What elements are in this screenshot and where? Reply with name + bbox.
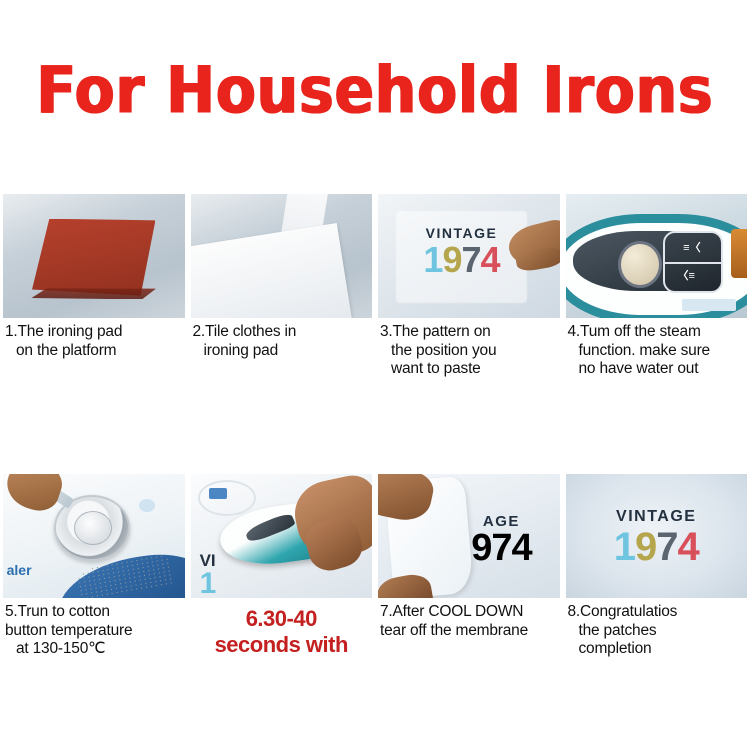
artwork-digit-9: 9	[442, 242, 461, 278]
shirt-tag	[209, 488, 227, 499]
step-number-2: 2.	[193, 323, 206, 340]
step-number-3: 3.	[380, 323, 393, 340]
dial-center	[74, 511, 112, 545]
artwork-word: VINTAGE	[566, 509, 748, 525]
step-number-8: 8.	[568, 603, 581, 620]
step-number-4: 4.	[568, 323, 581, 340]
step-line2-4: function. make sure	[568, 342, 746, 361]
button-divider	[665, 262, 721, 264]
step-line1-8: Congratulatios	[580, 603, 677, 620]
iron-knob[interactable]	[618, 241, 662, 288]
step-cell-4: ≡〈 〈≡ 4.Tum off the steam function. make…	[563, 194, 750, 379]
step-image-4: ≡〈 〈≡	[566, 194, 748, 318]
step-caption-2: 2.Tile clothes in ironing pad	[191, 318, 373, 360]
step-image-1	[3, 194, 185, 318]
step-caption-6: 6.30-40 seconds with	[191, 598, 373, 658]
step-image-3: VINTAGE 1974	[378, 194, 560, 318]
steam-burst-icon: ≡〈	[683, 239, 700, 255]
page-title: For Household Irons	[36, 52, 713, 128]
step-line3-4: no have water out	[568, 360, 746, 379]
step-cell-3: VINTAGE 1974 3.The pattern on the positi…	[375, 194, 563, 379]
step-caption-7: 7.After COOL DOWN tear off the membrane	[378, 598, 560, 640]
step-line2-6: seconds with	[193, 632, 371, 658]
artwork-digit-partial: 1	[200, 570, 217, 597]
artwork-digit-1: 1	[423, 242, 442, 278]
step-image-8: VINTAGE 1974	[566, 474, 748, 598]
step-line2-1: on the platform	[5, 342, 183, 361]
step-image-6: VI 1	[191, 474, 373, 598]
step-cell-5: aler 5.Trun to cotton button temperature…	[0, 474, 188, 659]
step-line1-1: The ironing pad	[18, 323, 123, 340]
step-cell-1: 1.The ironing pad on the platform	[0, 194, 188, 379]
brand-label: aler	[7, 562, 32, 578]
step-number-7: 7.	[380, 603, 393, 620]
step-caption-1: 1.The ironing pad on the platform	[3, 318, 185, 360]
artwork-word: VINTAGE	[396, 226, 527, 240]
artwork-digit-9: 9	[635, 527, 656, 567]
artwork-digit-7: 7	[461, 242, 480, 278]
step-line2-3: the position you	[380, 342, 558, 361]
steam-off-icon: 〈≡	[678, 267, 695, 283]
artwork-digit-4: 4	[481, 242, 500, 278]
iron-label-plate	[682, 299, 736, 310]
artwork-year: 1974	[396, 242, 527, 278]
ironing-pad-shape	[32, 219, 155, 296]
step-cell-2: 2.Tile clothes in ironing pad	[188, 194, 376, 379]
artwork-digit-7: 7	[656, 527, 677, 567]
steps-row-top: 1.The ironing pad on the platform 2.Tile…	[0, 194, 750, 379]
title-banner: For Household Irons	[0, 0, 750, 180]
step-number-1: 1.	[5, 323, 18, 340]
vintage-artwork-3: VINTAGE 1974	[396, 226, 527, 278]
step-line2-8: the patches	[568, 622, 746, 641]
step-caption-4: 4.Tum off the steam function. make sure …	[566, 318, 748, 379]
step-caption-5: 5.Trun to cotton button temperature at 1…	[3, 598, 185, 659]
step-line2-5: button temperature	[5, 622, 183, 641]
step-cell-6: VI 1 6.30-40 seconds with	[188, 474, 376, 659]
step-line1-2: Tile clothes in	[205, 323, 296, 340]
iron-handle	[244, 511, 296, 544]
iron-orange-accent	[731, 229, 747, 279]
step-image-5: aler	[3, 474, 185, 598]
artwork-year: 1974	[566, 527, 748, 567]
step-line3-3: want to paste	[380, 360, 558, 379]
artwork-digit-4: 4	[678, 527, 699, 567]
step-line3-8: completion	[568, 640, 746, 659]
step-line2-2: ironing pad	[193, 342, 371, 361]
step-cell-7: AGE 974 7.After COOL DOWN tear off the m…	[375, 474, 563, 659]
vintage-artwork-8: VINTAGE 1974	[566, 509, 748, 567]
step-line1-6: 6.30-40	[193, 606, 371, 632]
step-line3-5: at 130-150℃	[5, 640, 183, 659]
step-line2-7: tear off the membrane	[380, 622, 558, 641]
step-caption-3: 3.The pattern on the position you want t…	[378, 318, 560, 379]
vintage-artwork-6: VI 1	[200, 553, 217, 596]
step-line1-4: Tum off the steam	[580, 323, 701, 340]
step-image-7: AGE 974	[378, 474, 560, 598]
step-line1-7: After COOL DOWN	[393, 603, 524, 620]
step-line1-5: Trun to cotton	[18, 603, 110, 620]
ironing-pad-edge	[30, 288, 157, 299]
steam-buttons[interactable]: ≡〈 〈≡	[663, 231, 723, 293]
step-image-2	[191, 194, 373, 318]
artwork-digit-1: 1	[614, 527, 635, 567]
step-caption-8: 8.Congratulatios the patches completion	[566, 598, 748, 659]
step-cell-8: VINTAGE 1974 8.Congratulatios the patche…	[563, 474, 750, 659]
step-number-5: 5.	[5, 603, 18, 620]
steps-row-bottom: aler 5.Trun to cotton button temperature…	[0, 474, 750, 659]
step-line1-3: The pattern on	[393, 323, 491, 340]
